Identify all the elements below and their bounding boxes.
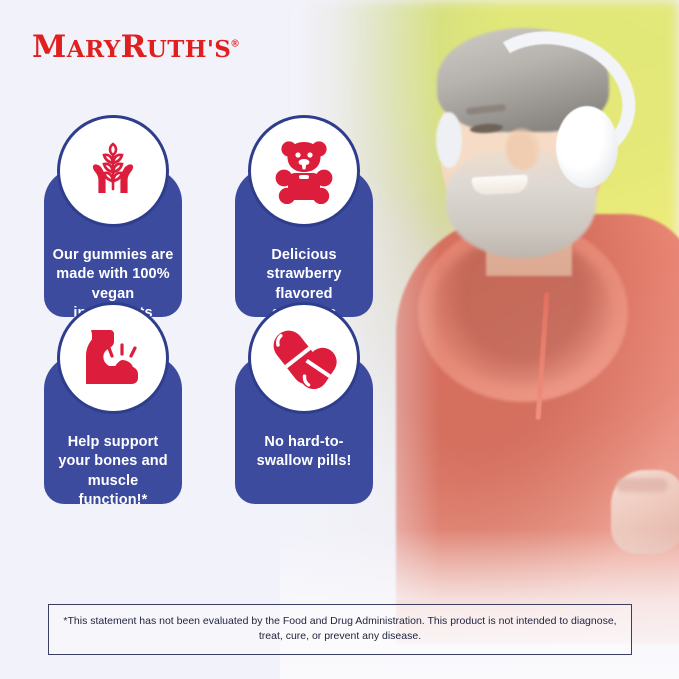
feature-card-no-pills: No hard-to-swallow pills! — [235, 355, 373, 504]
logo-uths: UTH'S — [147, 36, 232, 63]
registered-trademark-icon: ® — [231, 39, 239, 50]
feature-card-strawberry: Delicious strawberry flavored gummies — [235, 168, 373, 317]
feature-card-bones-muscle: Help support your bones and muscle funct… — [44, 355, 182, 504]
gummy-bear-icon — [248, 115, 360, 227]
logo-m: M — [32, 29, 67, 65]
feature-card-label: No hard-to-swallow pills! — [243, 433, 365, 472]
fda-disclaimer-text: *This statement has not been evaluated b… — [63, 615, 616, 642]
feature-card-label: Help support your bones and muscle funct… — [52, 433, 174, 510]
feature-card-row-2: Help support your bones and muscle funct… — [44, 355, 440, 504]
photo-headphone-right-cup — [556, 106, 618, 188]
flexed-arm-muscle-icon — [57, 302, 169, 414]
logo-ary: ARY — [67, 36, 121, 63]
feature-card-vegan: Our gummies are made with 100% vegan ing… — [44, 168, 182, 317]
hands-holding-plant-icon — [57, 115, 169, 227]
fda-disclaimer: *This statement has not been evaluated b… — [48, 604, 632, 655]
brand-logo: MARYRUTH'S® — [32, 32, 239, 63]
feature-card-grid: Our gummies are made with 100% vegan ing… — [44, 168, 440, 504]
product-feature-graphic: MARYRUTH'S® — [0, 0, 679, 679]
photo-hand-knuckles — [616, 478, 668, 492]
pill-capsules-icon — [248, 302, 360, 414]
logo-r: R — [121, 29, 147, 65]
feature-card-row-1: Our gummies are made with 100% vegan ing… — [44, 168, 440, 317]
